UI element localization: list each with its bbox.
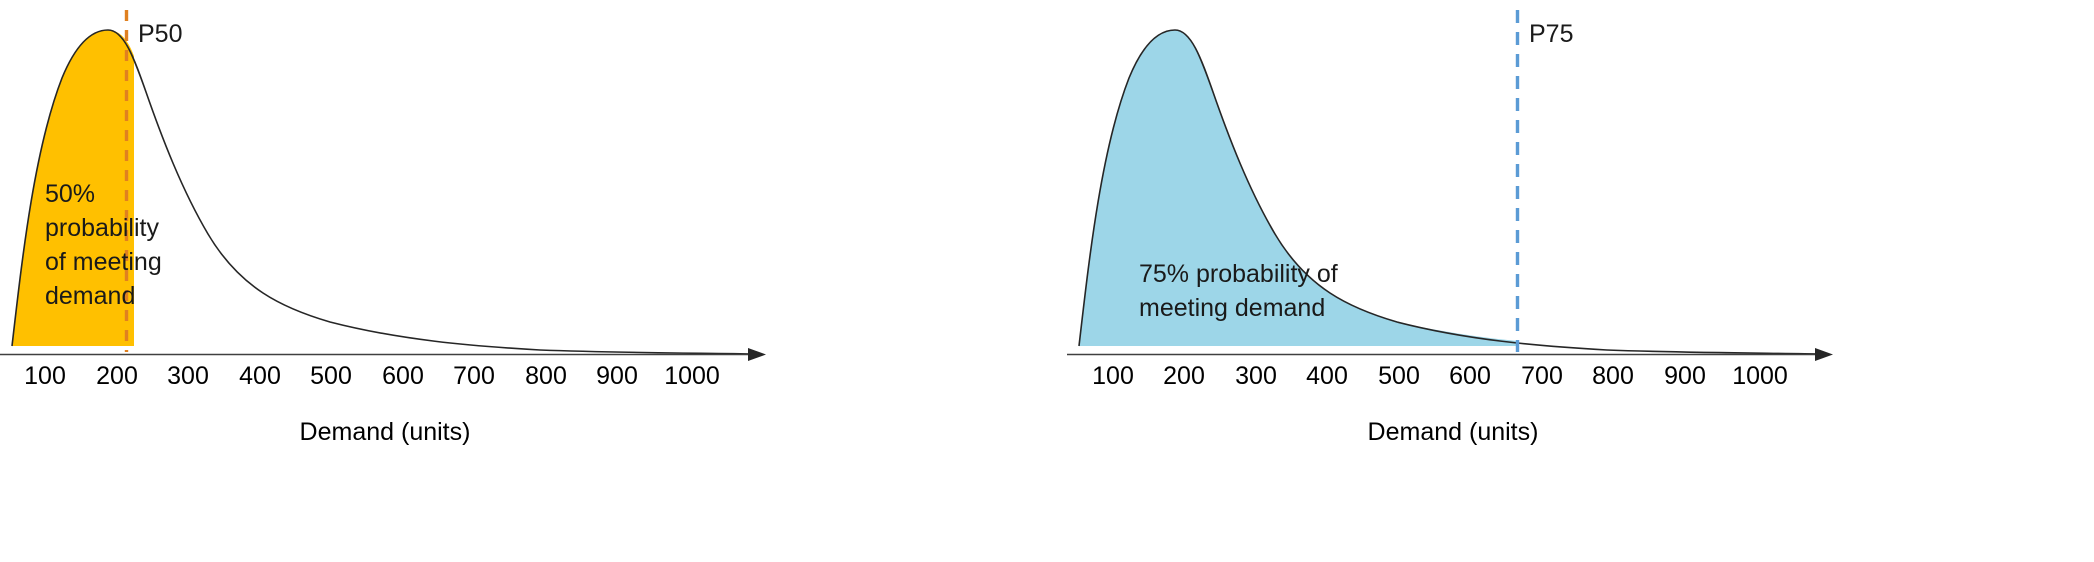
chart-panel-p75: P75 75% probability of meeting demand 10…	[1047, 0, 2094, 562]
x-tick-label-1000: 1000	[664, 362, 720, 391]
x-tick-label-600: 600	[1449, 362, 1491, 391]
p50-annotation-line-2: probability	[45, 211, 159, 245]
x-tick-label-800: 800	[525, 362, 567, 391]
p75-percentile-label: P75	[1529, 20, 1573, 49]
x-tick-label-500: 500	[310, 362, 352, 391]
p50-distribution-plot	[0, 0, 1047, 562]
x-tick-label-800: 800	[1592, 362, 1634, 391]
x-tick-label-400: 400	[239, 362, 281, 391]
chart-panel-p50: P50 50% probability of meeting demand 10…	[0, 0, 1047, 562]
p50-annotation-line-1: 50%	[45, 177, 95, 211]
p75-annotation-line-2: meeting demand	[1139, 291, 1325, 325]
x-tick-label-300: 300	[1235, 362, 1277, 391]
p50-percentile-label: P50	[138, 20, 182, 49]
x-tick-label-700: 700	[1521, 362, 1563, 391]
x-axis-arrowhead	[1815, 348, 1833, 361]
p75-annotation-line-1: 75% probability of	[1139, 257, 1338, 291]
figure-canvas: P50 50% probability of meeting demand 10…	[0, 0, 2094, 562]
x-tick-label-700: 700	[453, 362, 495, 391]
x-tick-label-400: 400	[1306, 362, 1348, 391]
x-tick-label-900: 900	[596, 362, 638, 391]
p50-annotation-line-4: demand	[45, 279, 135, 313]
x-tick-label-1000: 1000	[1732, 362, 1788, 391]
x-tick-label-100: 100	[1092, 362, 1134, 391]
x-axis-title: Demand (units)	[300, 418, 471, 447]
x-axis-title: Demand (units)	[1368, 418, 1539, 447]
x-tick-label-300: 300	[167, 362, 209, 391]
x-tick-label-500: 500	[1378, 362, 1420, 391]
x-tick-label-200: 200	[96, 362, 138, 391]
p50-annotation-line-3: of meeting	[45, 245, 162, 279]
x-tick-label-600: 600	[382, 362, 424, 391]
x-tick-label-900: 900	[1664, 362, 1706, 391]
x-axis-arrowhead	[748, 348, 766, 361]
x-tick-label-200: 200	[1163, 362, 1205, 391]
x-tick-label-100: 100	[24, 362, 66, 391]
